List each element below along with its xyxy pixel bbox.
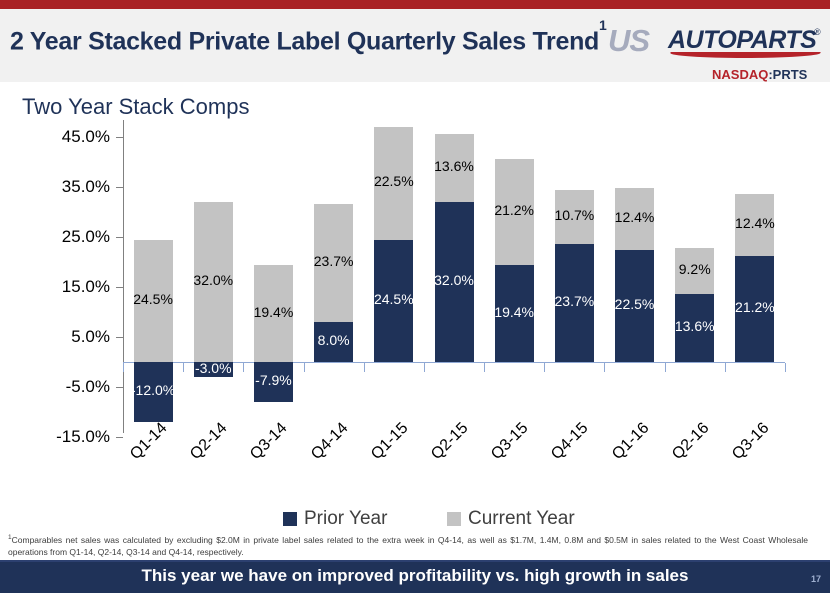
x-axis-label: Q1-14 — [127, 420, 171, 464]
bar-label-prior-year: 21.2% — [722, 299, 787, 315]
nasdaq-exchange-text: NASDAQ — [712, 67, 768, 82]
legend-item[interactable]: Current Year — [447, 508, 575, 530]
page-title-footnote-marker: 1 — [599, 17, 607, 33]
chart-title: Two Year Stack Comps — [22, 94, 249, 120]
bar-label-current-year: 19.4% — [241, 304, 306, 320]
us-autoparts-logo: US AUTOPARTS ® NASDAQ:PRTS — [608, 25, 822, 61]
slide-header: 2 Year Stacked Private Label Quarterly S… — [0, 9, 830, 82]
legend-swatch-icon — [447, 512, 461, 526]
legend-swatch-icon — [283, 512, 297, 526]
bar-group[interactable]: 32.0%13.6% — [435, 120, 474, 433]
bar-label-current-year: 13.6% — [422, 158, 487, 174]
bar-label-prior-year: 19.4% — [482, 304, 547, 320]
x-axis-label: Q3-14 — [247, 420, 291, 464]
bar-label-current-year: 10.7% — [542, 207, 607, 223]
x-axis-label: Q1-16 — [609, 420, 653, 464]
footer-top-rule — [0, 560, 830, 562]
logo-registered-icon: ® — [814, 27, 821, 37]
bar-label-prior-year: -12.0% — [121, 382, 186, 398]
bar-group[interactable]: -12.0%24.5% — [134, 120, 173, 433]
bar-label-prior-year: 32.0% — [422, 272, 487, 288]
bar-group[interactable]: 13.6%9.2% — [675, 120, 714, 433]
bar-group[interactable]: -3.0%32.0% — [194, 120, 233, 433]
bar-series-container: -12.0%24.5%-3.0%32.0%-7.9%19.4%8.0%23.7%… — [0, 120, 830, 433]
x-axis-label: Q4-14 — [308, 420, 352, 464]
bar-group[interactable]: 23.7%10.7% — [555, 120, 594, 433]
legend-label: Prior Year — [304, 508, 387, 530]
page-number: 17 — [811, 574, 821, 584]
bar-label-prior-year: -7.9% — [241, 372, 306, 388]
bar-label-current-year: 23.7% — [301, 253, 366, 269]
x-axis-label: Q3-15 — [488, 420, 532, 464]
footer-takeaway-text: This year we have on improved profitabil… — [0, 566, 830, 586]
bar-label-current-year: 22.5% — [361, 173, 426, 189]
slide-footer: This year we have on improved profitabil… — [0, 560, 830, 593]
logo-us-text: US — [608, 25, 649, 57]
bar-label-prior-year: 8.0% — [301, 332, 366, 348]
footnote: 1Comparables net sales was calculated by… — [8, 532, 808, 558]
x-axis-label: Q3-16 — [729, 420, 773, 464]
x-axis-label: Q4-15 — [548, 420, 592, 464]
legend-item[interactable]: Prior Year — [283, 508, 387, 530]
bar-label-current-year: 12.4% — [602, 209, 667, 225]
page-title: 2 Year Stacked Private Label Quarterly S… — [10, 27, 607, 56]
bar-label-current-year: 32.0% — [181, 272, 246, 288]
slide: 2 Year Stacked Private Label Quarterly S… — [0, 0, 830, 593]
logo-swoosh-icon — [669, 52, 820, 58]
bar-group[interactable]: 19.4%21.2% — [495, 120, 534, 433]
bar-group[interactable]: 22.5%12.4% — [615, 120, 654, 433]
bar-label-current-year: 24.5% — [121, 291, 186, 307]
top-red-rule — [0, 0, 830, 9]
bar-label-prior-year: 23.7% — [542, 293, 607, 309]
footnote-text: Comparables net sales was calculated by … — [8, 535, 808, 557]
bar-group[interactable]: 24.5%22.5% — [374, 120, 413, 433]
bar-group[interactable]: -7.9%19.4% — [254, 120, 293, 433]
page-title-text: 2 Year Stacked Private Label Quarterly S… — [10, 27, 599, 55]
x-axis-label: Q2-16 — [669, 420, 713, 464]
bar-label-prior-year: 24.5% — [361, 291, 426, 307]
bar-label-current-year: 9.2% — [662, 261, 727, 277]
legend-label: Current Year — [468, 508, 575, 530]
x-axis-label: Q1-15 — [368, 420, 412, 464]
bar-group[interactable]: 21.2%12.4% — [735, 120, 774, 433]
x-axis-labels: Q1-14Q2-14Q3-14Q4-14Q1-15Q2-15Q3-15Q4-15… — [0, 425, 830, 495]
bar-label-prior-year: 22.5% — [602, 296, 667, 312]
chart-plot-area: -15.0%-5.0%5.0%15.0%25.0%35.0%45.0% -12.… — [0, 120, 830, 420]
nasdaq-ticker: NASDAQ:PRTS — [712, 67, 807, 82]
bar-label-prior-year: -3.0% — [181, 360, 246, 376]
bar-label-current-year: 21.2% — [482, 202, 547, 218]
bar-group[interactable]: 8.0%23.7% — [314, 120, 353, 433]
x-axis-label: Q2-15 — [428, 420, 472, 464]
x-axis-label: Q2-14 — [187, 420, 231, 464]
bar-label-current-year: 12.4% — [722, 215, 787, 231]
logo-autoparts-text: AUTOPARTS — [668, 26, 816, 54]
nasdaq-symbol-text: :PRTS — [768, 67, 807, 82]
bar-label-prior-year: 13.6% — [662, 318, 727, 334]
